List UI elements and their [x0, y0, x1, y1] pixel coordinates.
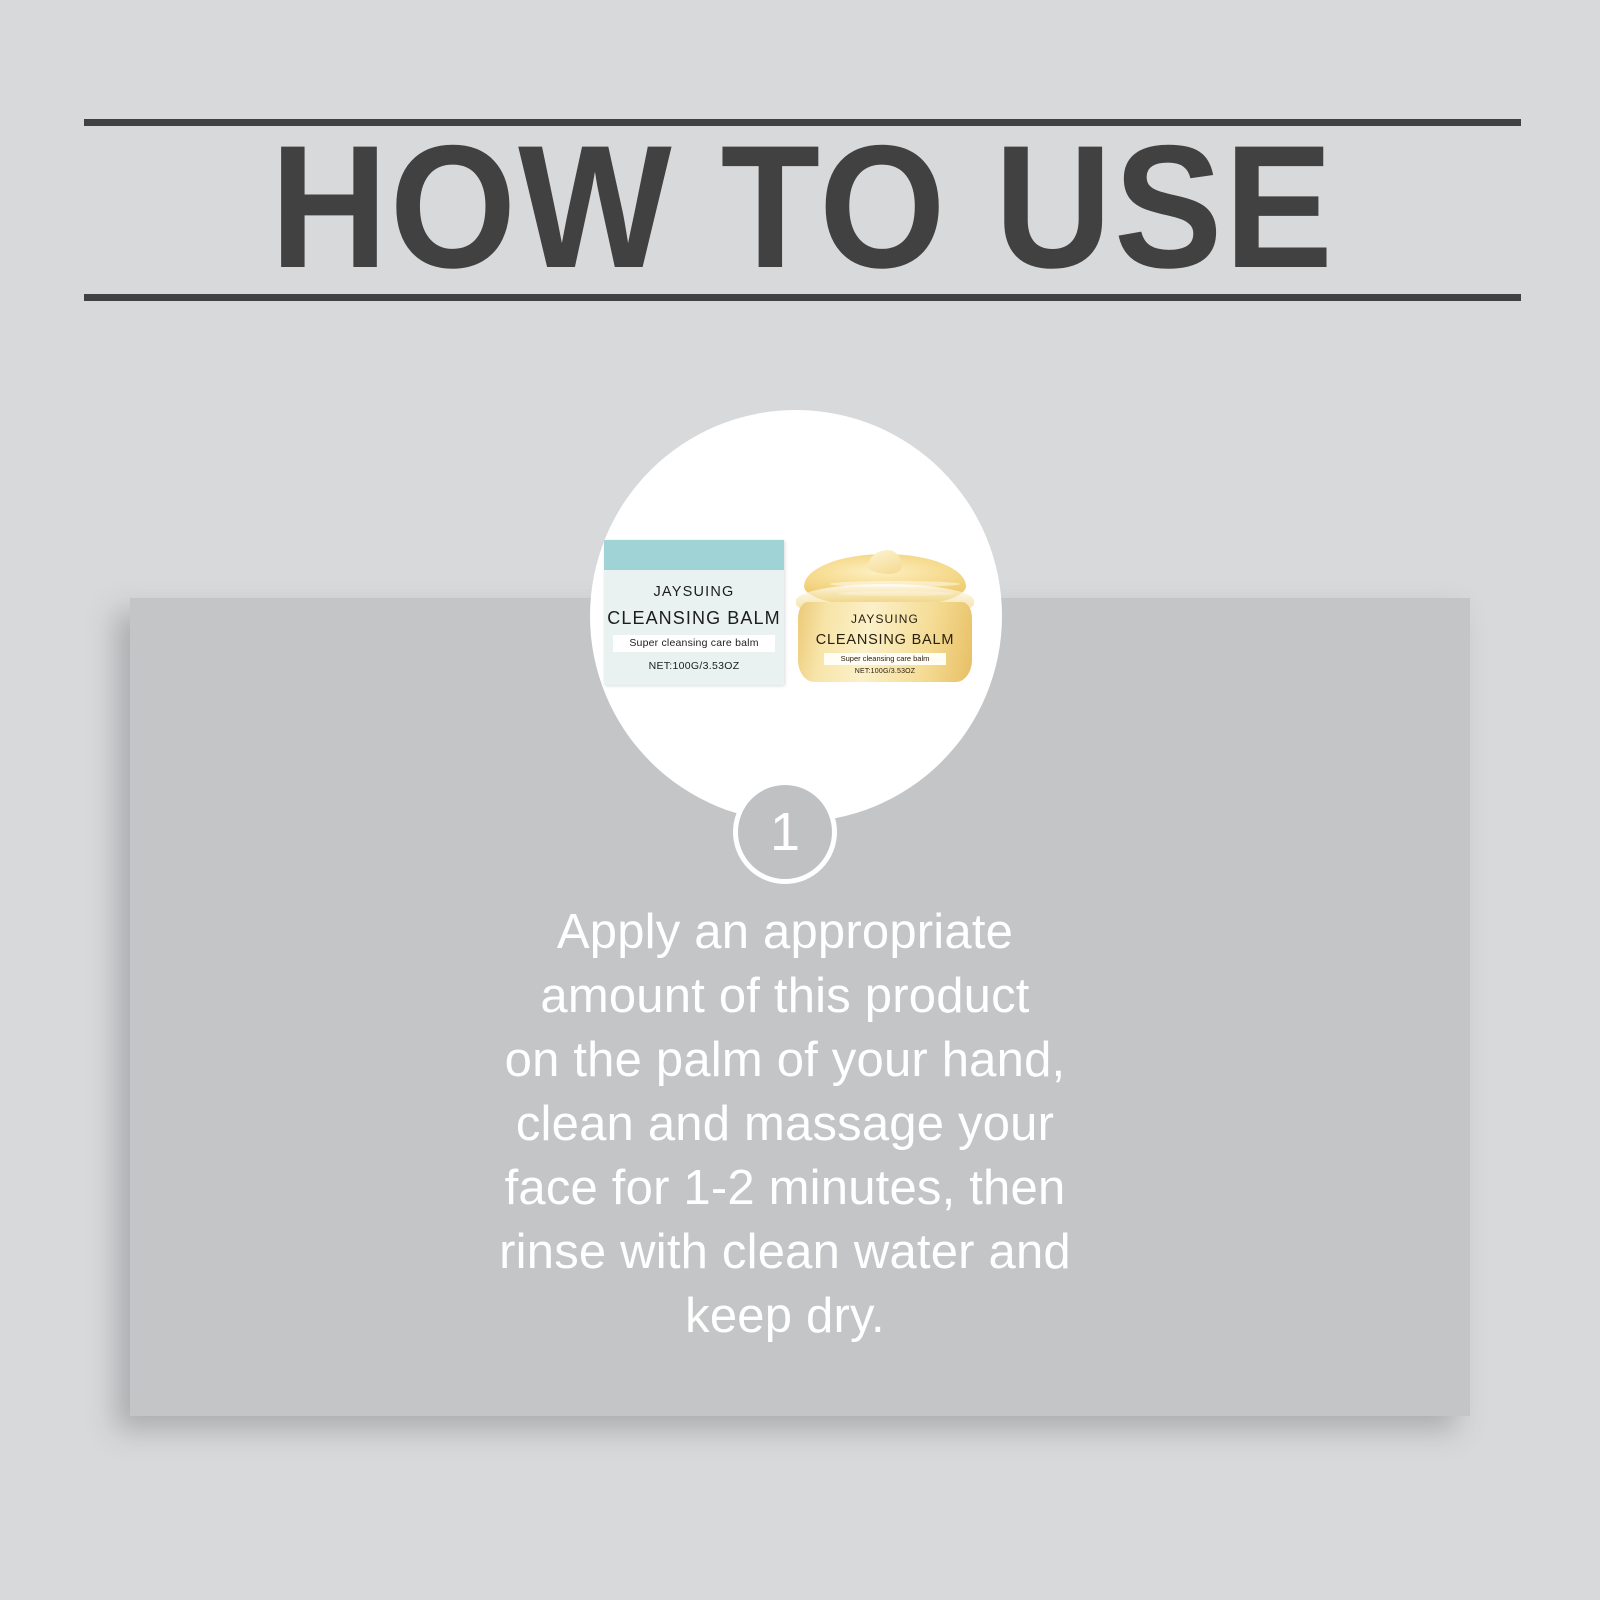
product-jar: JAYSUING CLEANSING BALM Super cleansing …	[790, 550, 980, 690]
step-line: keep dry.	[420, 1284, 1150, 1348]
step-number-badge: 1	[733, 780, 837, 884]
jar-tagline-label: Super cleansing care balm	[824, 653, 946, 665]
product-image-circle: JAYSUING CLEANSING BALM Super cleansing …	[590, 410, 1002, 822]
step-line: amount of this product	[420, 964, 1150, 1028]
page-title: HOW TO USE	[134, 126, 1470, 290]
jar-body: JAYSUING CLEANSING BALM Super cleansing …	[798, 602, 972, 682]
box-brand-label: JAYSUING	[604, 584, 784, 600]
product-box-carton: JAYSUING CLEANSING BALM Super cleansing …	[604, 540, 784, 685]
step-line: face for 1-2 minutes, then	[420, 1156, 1150, 1220]
box-tagline-label: Super cleansing care balm	[613, 635, 775, 652]
jar-product-label: CLEANSING BALM	[798, 632, 972, 648]
step-line: Apply an appropriate	[420, 900, 1150, 964]
step-line: on the palm of your hand,	[420, 1028, 1150, 1092]
step-line: clean and massage your	[420, 1092, 1150, 1156]
step-instruction-text: Apply an appropriate amount of this prod…	[420, 900, 1150, 1348]
step-line: rinse with clean water and	[420, 1220, 1150, 1284]
box-net-weight-label: NET:100G/3.53OZ	[604, 660, 784, 672]
jar-tagline-band: Super cleansing care balm	[824, 653, 946, 665]
title-rule-bottom	[84, 294, 1521, 301]
box-product-label: CLEANSING BALM	[604, 608, 784, 629]
header: HOW TO USE	[0, 0, 1600, 320]
jar-net-weight-label: NET:100G/3.53OZ	[798, 668, 972, 675]
how-to-use-infographic: HOW TO USE JAYSUING CLEANSING BALM Super…	[0, 0, 1600, 1600]
box-top-band	[604, 540, 784, 570]
jar-brand-label: JAYSUING	[798, 612, 972, 626]
box-tagline-band: Super cleansing care balm	[613, 635, 775, 652]
